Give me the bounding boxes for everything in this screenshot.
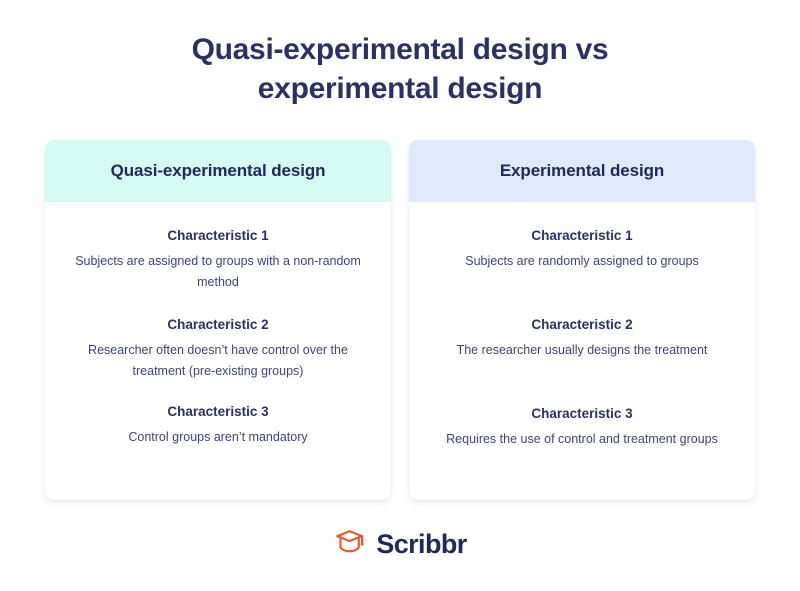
characteristic-title: Characteristic 2 (63, 317, 373, 332)
characteristic-block: Characteristic 3 Control groups aren’t m… (63, 404, 373, 448)
page-title: Quasi-experimental design vs experimenta… (100, 30, 700, 108)
characteristic-block: Characteristic 2 The researcher usually … (427, 317, 737, 361)
card-body-experimental: Characteristic 1 Subjects are randomly a… (409, 202, 755, 500)
characteristic-block: Characteristic 3 Requires the use of con… (427, 406, 737, 450)
card-body-quasi-experimental: Characteristic 1 Subjects are assigned t… (45, 202, 391, 500)
card-header-experimental: Experimental design (409, 140, 755, 202)
scribbr-logo: Scribbr (0, 528, 800, 561)
infographic-root: Quasi-experimental design vs experimenta… (0, 0, 800, 591)
characteristic-description: Requires the use of control and treatmen… (427, 429, 737, 450)
characteristic-description: Researcher often doesn’t have control ov… (63, 340, 373, 382)
scribbr-wordmark: Scribbr (376, 529, 466, 560)
page-title-line-1: Quasi-experimental design vs (100, 30, 700, 69)
graduation-cap-icon (333, 528, 367, 561)
comparison-cards: Quasi-experimental design Characteristic… (45, 140, 755, 500)
characteristic-title: Characteristic 3 (63, 404, 373, 419)
characteristic-title: Characteristic 2 (427, 317, 737, 332)
characteristic-title: Characteristic 3 (427, 406, 737, 421)
characteristic-description: The researcher usually designs the treat… (427, 340, 737, 361)
characteristic-description: Subjects are assigned to groups with a n… (63, 251, 373, 293)
card-quasi-experimental: Quasi-experimental design Characteristic… (45, 140, 391, 500)
characteristic-description: Subjects are randomly assigned to groups (427, 251, 737, 272)
characteristic-block: Characteristic 1 Subjects are randomly a… (427, 228, 737, 272)
card-header-quasi-experimental: Quasi-experimental design (45, 140, 391, 202)
characteristic-title: Characteristic 1 (427, 228, 737, 243)
card-experimental: Experimental design Characteristic 1 Sub… (409, 140, 755, 500)
characteristic-description: Control groups aren’t mandatory (63, 427, 373, 448)
characteristic-title: Characteristic 1 (63, 228, 373, 243)
characteristic-block: Characteristic 2 Researcher often doesn’… (63, 317, 373, 382)
characteristic-block: Characteristic 1 Subjects are assigned t… (63, 228, 373, 293)
page-title-line-2: experimental design (100, 69, 700, 108)
